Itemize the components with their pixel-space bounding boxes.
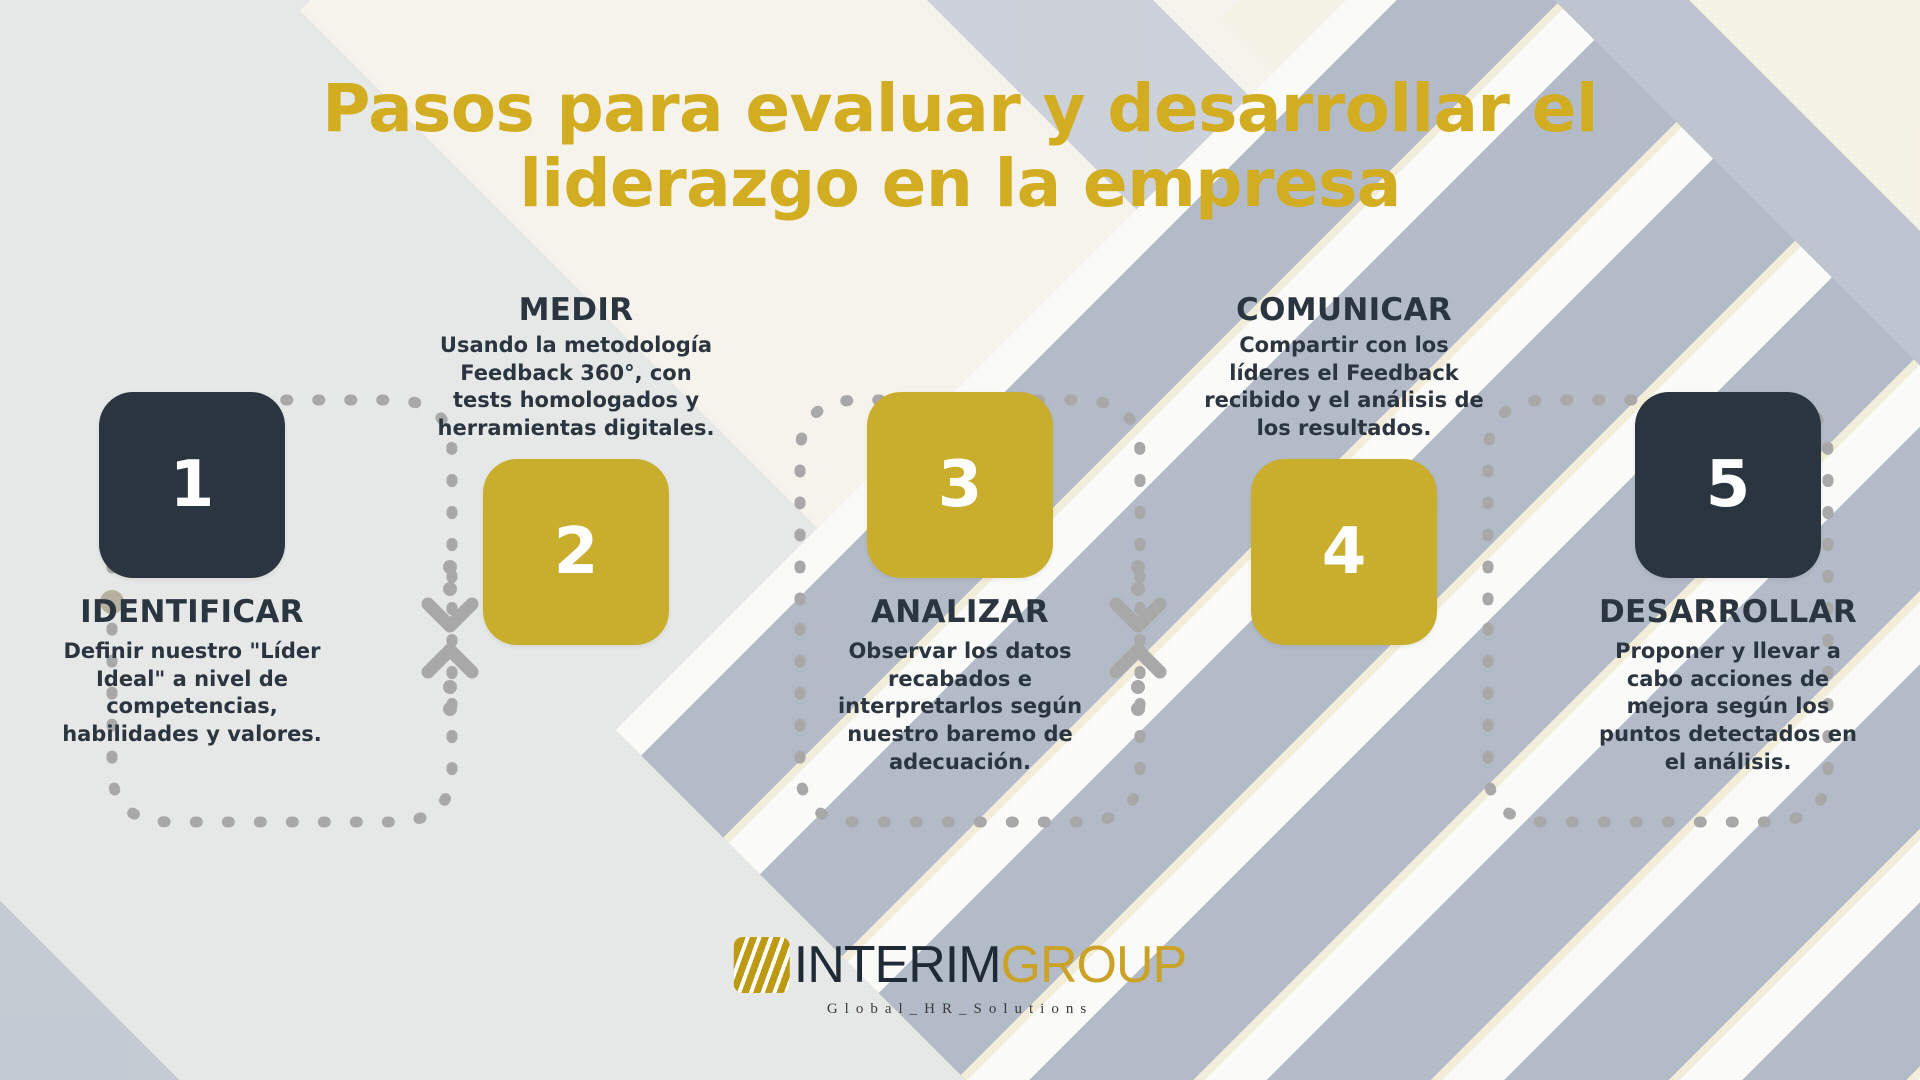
step-item-1[interactable]: 1 IDENTIFICAR Definir nuestro "Líder Ide… [0,330,384,890]
step-item-4[interactable]: 4 COMUNICAR Compartir con los líderes el… [1152,330,1536,890]
company-logo[interactable]: INTERIMGROUP Global_HR_Solutions [734,937,1186,1018]
step-number-badge-5: 5 [1635,392,1821,578]
step-title-5: DESARROLLAR [1578,594,1878,630]
step-title-4: COMUNICAR [1194,292,1494,328]
logo-wordmark-row: INTERIMGROUP [734,937,1186,993]
step-title-1: IDENTIFICAR [42,594,342,630]
step-item-5[interactable]: 5 DESARROLLAR Proponer y llevar a cabo a… [1536,330,1920,890]
step-number-badge-1: 1 [99,392,285,578]
interim-group-mark-icon [734,937,790,993]
step-number-badge-3: 3 [867,392,1053,578]
infographic-content: Pasos para evaluar y desarrollar el lide… [0,0,1920,1080]
step-item-2[interactable]: 2 MEDIR Usando la metodología Feedback 3… [384,330,768,890]
steps-container: 1 IDENTIFICAR Definir nuestro "Líder Ide… [0,330,1920,890]
step-description-5: Proponer y llevar a cabo acciones de mej… [1578,638,1878,777]
step-number-badge-2: 2 [483,459,669,645]
step-title-2: MEDIR [426,292,726,328]
logo-slashes-icon [734,937,790,993]
logo-tagline: Global_HR_Solutions [827,1001,1093,1018]
logo-wordmark: INTERIMGROUP [794,939,1186,991]
step-description-1: Definir nuestro "Líder Ideal" a nivel de… [42,638,342,749]
step-description-2: Usando la metodología Feedback 360°, con… [426,332,726,443]
step-item-3[interactable]: 3 ANALIZAR Observar los datos recabados … [768,330,1152,890]
logo-name-part1: INTERIM [794,936,1001,994]
step-description-4: Compartir con los líderes el Feedback re… [1194,332,1494,443]
step-description-3: Observar los datos recabados e interpret… [810,638,1110,777]
step-title-3: ANALIZAR [810,594,1110,630]
page-title: Pasos para evaluar y desarrollar el lide… [0,72,1920,221]
step-number-badge-4: 4 [1251,459,1437,645]
logo-name-part2: GROUP [1001,936,1187,994]
